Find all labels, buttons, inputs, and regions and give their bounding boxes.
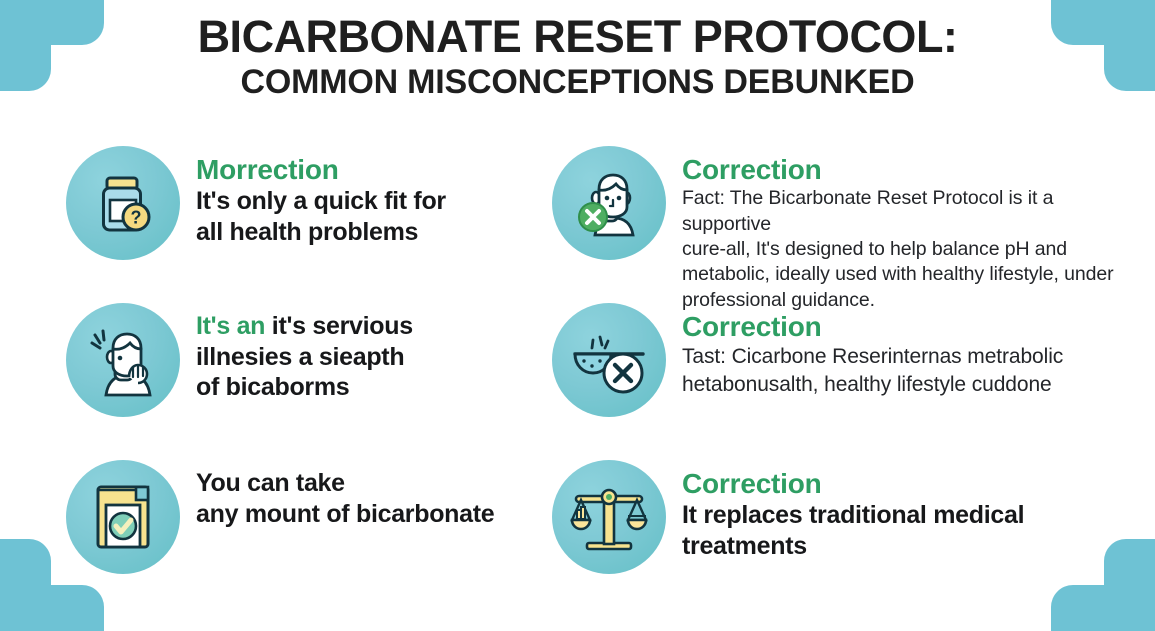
item-myth-serious-illness: It's an it's servious illnesies a sieapt… <box>66 303 536 417</box>
icon-circle <box>552 460 666 574</box>
item-body-line-2: treatments <box>682 531 1024 562</box>
item-correction-supportive: Correction Fact: The Bicarbonate Reset P… <box>552 146 1142 313</box>
pill-bottle-question-icon: ? <box>86 166 160 240</box>
item-myth-quick-fix: ? Morrection It's only a quick fit for a… <box>66 146 536 260</box>
item-text-block: Morrection It's only a quick fit for all… <box>196 146 446 247</box>
item-text-block: Correction Fact: The Bicarbonate Reset P… <box>682 146 1142 313</box>
item-text-block: Correction It replaces traditional medic… <box>682 460 1024 561</box>
item-body-line-3: of bicaborms <box>196 372 413 403</box>
item-body-line-1: It's only a quick fit for <box>196 186 446 217</box>
item-text-block: Correction Tast: Cicarbone Reserinternas… <box>682 303 1063 400</box>
item-body-line-2: hetabonusalth, healthy lifestyle cuddone <box>682 371 1063 399</box>
item-body-line-2: cure-all, It's designed to help balance … <box>682 237 1142 262</box>
item-body-line-1: It replaces traditional medical <box>682 500 1024 531</box>
svg-text:?: ? <box>131 208 142 228</box>
icon-circle <box>552 146 666 260</box>
item-body-line-3: metabolic, ideally used with healthy lif… <box>682 262 1142 287</box>
item-body-line-1-rest: it's servious <box>272 312 413 340</box>
face-cross-icon <box>569 163 649 243</box>
item-heading: Correction <box>682 311 1063 342</box>
item-body-line-1: Fact: The Bicarbonate Reset Protocol is … <box>682 186 1142 237</box>
icon-circle <box>66 460 180 574</box>
icon-circle <box>66 303 180 417</box>
title-line-primary: BICARBONATE RESET PROTOCOL: <box>0 14 1155 60</box>
spoon-cross-icon <box>567 323 651 397</box>
item-body-line-2: any mount of bicarbonate <box>196 499 494 530</box>
sick-person-icon <box>82 319 164 401</box>
item-correction-replaces-treatment: Correction It replaces traditional medic… <box>552 460 1142 574</box>
item-heading-inline: It's an <box>196 312 265 340</box>
icon-circle: ? <box>66 146 180 260</box>
item-body-line-1: Tast: Cicarbone Reserinternas metrabolic <box>682 343 1063 371</box>
item-body-line-1: You can take <box>196 468 494 499</box>
title-line-secondary: COMMON MISCONCEPTIONS DEBUNKED <box>0 60 1155 106</box>
item-correction-metabolic: Correction Tast: Cicarbone Reserinternas… <box>552 303 1142 417</box>
balance-scale-icon <box>570 480 648 554</box>
item-text-block: You can take any mount of bicarbonate <box>196 460 494 529</box>
icon-circle <box>552 303 666 417</box>
item-body-line-2: all health problems <box>196 217 446 248</box>
item-myth-any-amount: You can take any mount of bicarbonate <box>66 460 536 574</box>
item-heading: Correction <box>682 468 1024 499</box>
document-check-icon <box>86 479 160 555</box>
item-heading: Morrection <box>196 154 446 185</box>
item-body-line-1: It's an it's servious <box>196 311 413 342</box>
page-title: BICARBONATE RESET PROTOCOL: COMMON MISCO… <box>0 14 1155 106</box>
misconceptions-grid: ? Morrection It's only a quick fit for a… <box>0 140 1155 610</box>
item-body-line-2: illnesies a sieapth <box>196 342 413 373</box>
item-text-block: It's an it's servious illnesies a sieapt… <box>196 303 413 403</box>
item-heading: Correction <box>682 154 1142 185</box>
